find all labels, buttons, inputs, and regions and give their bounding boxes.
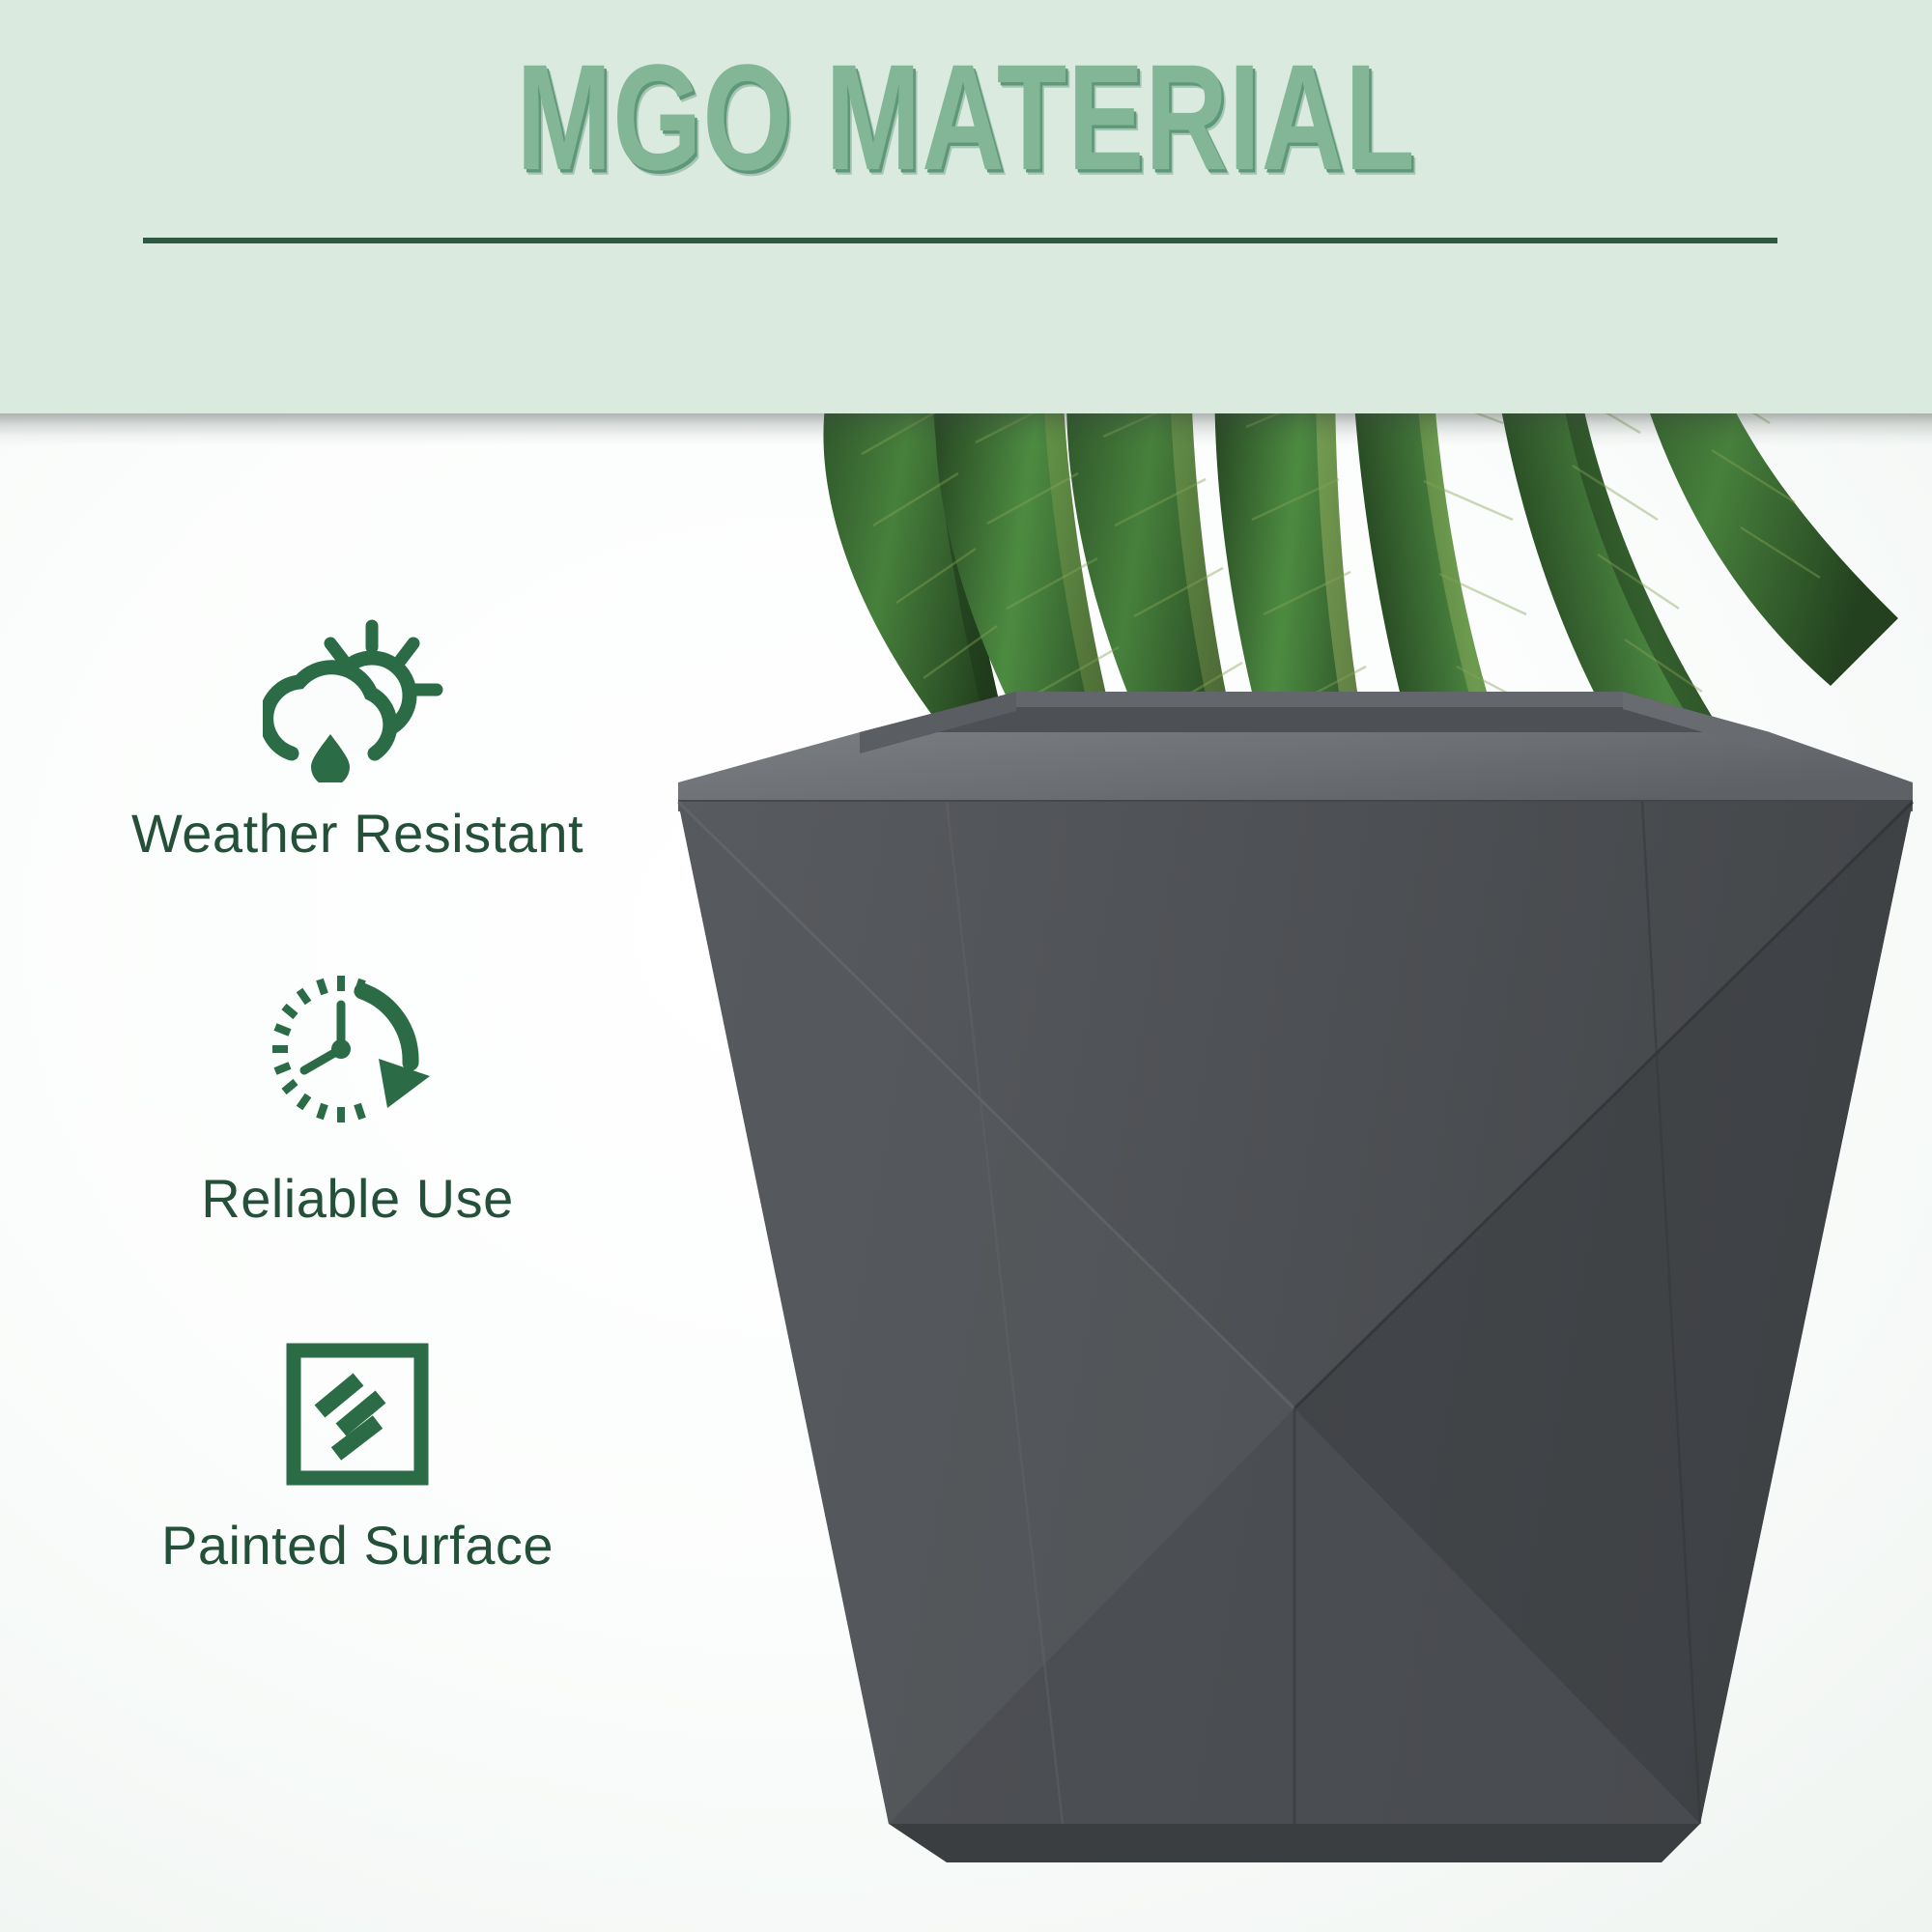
painted-surface-brush-strokes-icon <box>285 1342 430 1487</box>
planter-body <box>678 802 1913 1862</box>
feature-item-reliable-use: Reliable Use <box>58 970 657 1229</box>
title-divider <box>143 238 1777 243</box>
feature-list: Weather Resistant <box>58 618 657 1682</box>
planter-base <box>889 1824 1700 1862</box>
feature-label: Painted Surface <box>58 1516 657 1576</box>
tapered-geometric-planter <box>657 674 1932 1920</box>
infographic-page: MGO MATERIAL Weather Resistant <box>0 0 1932 1932</box>
rotate-arc <box>362 991 411 1063</box>
feature-item-painted-surface: Painted Surface <box>58 1342 657 1576</box>
weather-cloud-sun-rain-icon <box>263 618 452 782</box>
clock-center-dot <box>331 1039 351 1059</box>
planter-rim <box>678 692 1913 811</box>
feature-label: Weather Resistant <box>58 804 657 864</box>
feature-label: Reliable Use <box>58 1169 657 1229</box>
clock-rotate-arrow-icon <box>270 970 445 1136</box>
rim-back-strip <box>1016 692 1623 707</box>
feature-item-weather-resistant: Weather Resistant <box>58 618 657 864</box>
product-scene <box>657 319 1932 1932</box>
brush-strokes <box>320 1379 381 1454</box>
page-title: MGO MATERIAL <box>135 43 1797 193</box>
